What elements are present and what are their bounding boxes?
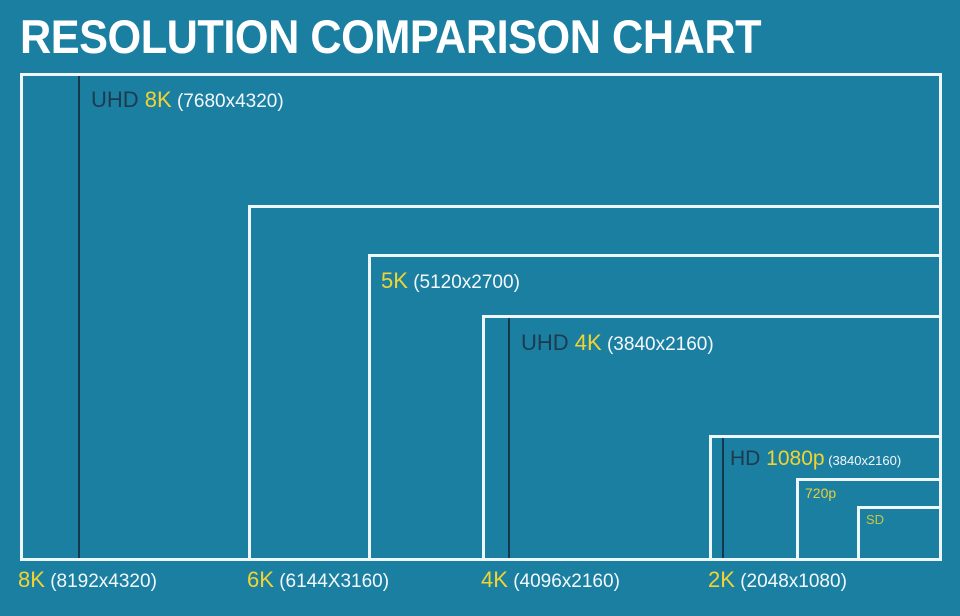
resolution-label-sd-key: SD — [866, 512, 884, 527]
resolution-label-720p: 720p — [805, 486, 836, 500]
chart-canvas: RESOLUTION COMPARISON CHART UHD 8K (7680… — [0, 0, 960, 616]
divider-rule-8k — [78, 76, 80, 558]
resolution-label-4k-key: 4K — [575, 330, 602, 355]
page-title: RESOLUTION COMPARISON CHART — [20, 10, 848, 64]
resolution-label-5k-key: 5K — [381, 268, 408, 293]
resolution-label-720p-key: 720p — [805, 485, 836, 501]
axis-label-8k: 8K (8192x4320) — [18, 569, 157, 591]
axis-label-2k-key: 2K — [708, 567, 735, 592]
axis-label-6k-key: 6K — [247, 567, 274, 592]
axis-label-4k: 4K (4096x2160) — [481, 569, 620, 591]
resolution-label-1080p-key: 1080p — [766, 447, 824, 470]
resolution-label-8k: UHD 8K (7680x4320) — [91, 89, 284, 111]
divider-rule-2k — [722, 438, 724, 558]
resolution-label-1080p-prefix: HD — [730, 447, 766, 470]
axis-label-2k: 2K (2048x1080) — [708, 569, 847, 591]
axis-label-8k-key: 8K — [18, 567, 45, 592]
resolution-label-1080p-dimensions: (3840x2160) — [825, 453, 902, 468]
resolution-label-4k: UHD 4K (3840x2160) — [521, 332, 714, 354]
resolution-label-1080p: HD 1080p (3840x2160) — [730, 448, 901, 469]
resolution-label-4k-prefix: UHD — [521, 330, 575, 355]
axis-label-4k-key: 4K — [481, 567, 508, 592]
axis-label-6k: 6K (6144X3160) — [247, 569, 389, 591]
divider-rule-4k — [508, 318, 510, 558]
resolution-label-8k-dimensions: (7680x4320) — [172, 91, 284, 112]
resolution-label-5k: 5K (5120x2700) — [381, 270, 520, 292]
resolution-label-8k-key: 8K — [145, 87, 172, 112]
axis-label-2k-dimensions: (2048x1080) — [735, 571, 847, 592]
axis-label-4k-dimensions: (4096x2160) — [508, 571, 620, 592]
resolution-label-8k-prefix: UHD — [91, 87, 145, 112]
axis-label-6k-dimensions: (6144X3160) — [274, 571, 389, 592]
resolution-label-5k-dimensions: (5120x2700) — [408, 272, 520, 293]
axis-label-8k-dimensions: (8192x4320) — [45, 571, 157, 592]
resolution-label-sd: SD — [866, 513, 884, 526]
resolution-label-4k-dimensions: (3840x2160) — [602, 334, 714, 355]
